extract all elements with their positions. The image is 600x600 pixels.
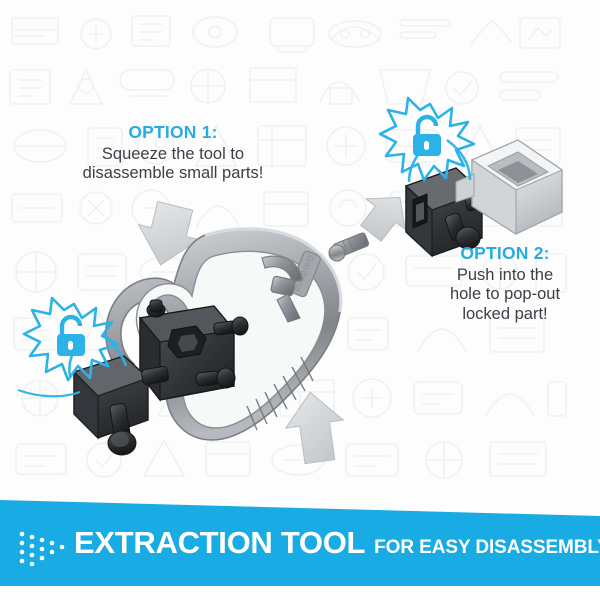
- banner-text-group: EXTRACTION TOOL FOR EASY DISASSEMBLY: [74, 527, 594, 558]
- option-1-line-2: disassemble small parts!: [48, 164, 298, 183]
- option-1-heading: OPTION 1:: [48, 122, 298, 143]
- option-2-line-3: locked part!: [416, 305, 594, 324]
- option-2-line-1: Push into the: [416, 266, 594, 285]
- banner-subtitle: FOR EASY DISASSEMBLY: [374, 538, 600, 557]
- option-2-heading: OPTION 2:: [416, 243, 594, 264]
- callout-option-1: OPTION 1: Squeeze the tool to disassembl…: [48, 122, 298, 184]
- dotted-chevron-icon: [18, 528, 70, 568]
- option-2-line-2: hole to pop-out: [416, 285, 594, 304]
- callout-option-2: OPTION 2: Push into the hole to pop-out …: [416, 243, 594, 324]
- banner-title: EXTRACTION TOOL: [74, 527, 365, 558]
- infographic-canvas: Gardena: [0, 0, 600, 600]
- option-1-line-1: Squeeze the tool to: [48, 145, 298, 164]
